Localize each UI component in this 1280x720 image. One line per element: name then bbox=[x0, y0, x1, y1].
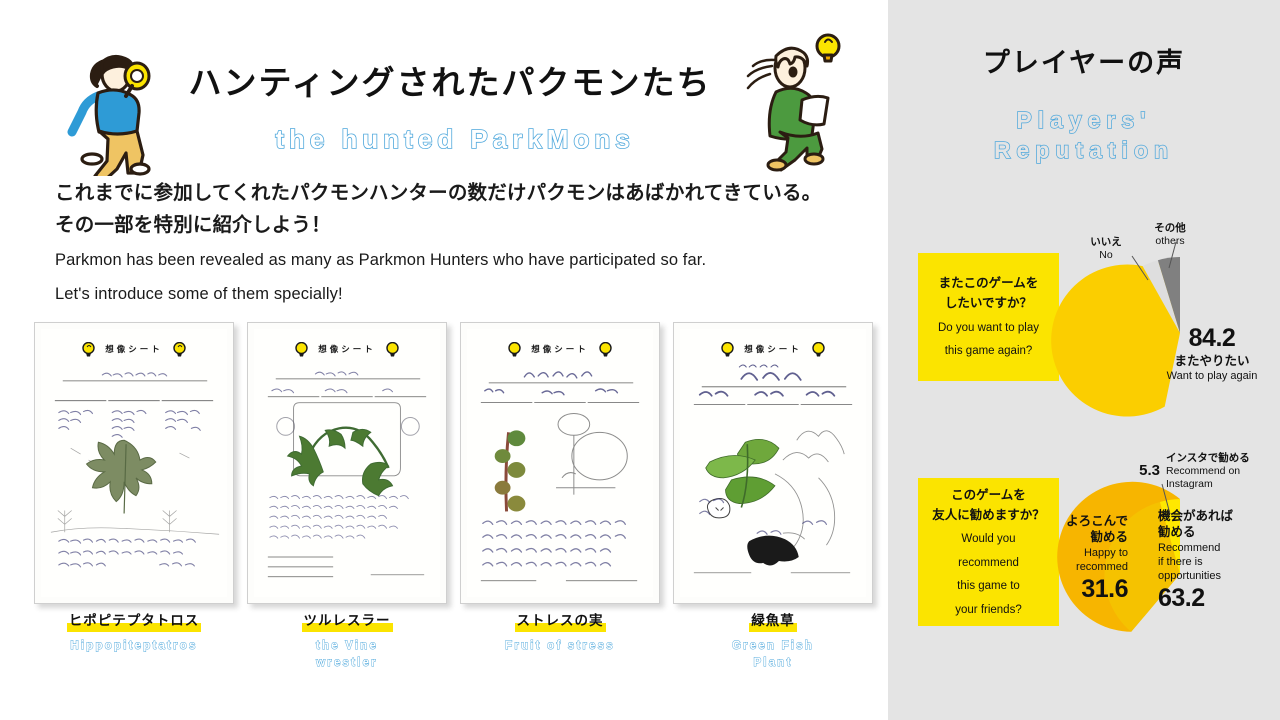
green-leaf-specimen bbox=[706, 439, 779, 507]
pie2-label-opportunity-jp-1: 機会があれば bbox=[1158, 508, 1278, 524]
lead-en-line-1: Parkmon has been revealed as many as Par… bbox=[55, 246, 855, 274]
card-caption-en: Green Fish Plant bbox=[673, 638, 873, 673]
pie2-label-happy-en-1: Happy to bbox=[1036, 546, 1128, 560]
question-1-jp-line-1: またこのゲームを bbox=[939, 273, 1039, 293]
pie2-label-opportunity-jp-2: 勧める bbox=[1158, 524, 1278, 540]
pie2-label-opportunity: 機会があれば 勧める Recommend if there is opportu… bbox=[1158, 508, 1278, 613]
question-2-jp-line-2: 友人に勧めますか？ bbox=[932, 505, 1045, 525]
lead-jp-line-1: これまでに参加してくれたパクモンハンターの数だけパクモンはあばかれてきている。 bbox=[55, 178, 855, 210]
parkmon-card[interactable]: 想像シート bbox=[34, 322, 234, 672]
lead-paragraph: これまでに参加してくれたパクモンハンターの数だけパクモンはあばかれてきている。 … bbox=[55, 178, 855, 308]
pie2-callout-instagram: インスタで勧める Recommend on Instagram bbox=[1166, 452, 1280, 490]
card-caption-jp: ツルレスラー bbox=[302, 613, 393, 632]
pie2-callout-instagram-en-2: Instagram bbox=[1166, 478, 1280, 491]
sheet-content bbox=[254, 329, 440, 597]
card-caption: ヒポピテプタトロス Hippopiteptatros bbox=[34, 612, 234, 655]
question-2-jp-line-1: このゲームを bbox=[951, 485, 1026, 505]
pie2-label-happy-jp-1: よろこんで bbox=[1036, 513, 1128, 529]
pie1-main-label-en: Want to play again bbox=[1152, 369, 1272, 383]
question-1-en-line-1: Do you want to play bbox=[938, 319, 1039, 338]
reputation-title-en: Players' Reputation bbox=[888, 105, 1280, 166]
berry-stem-specimen bbox=[495, 430, 526, 511]
pie1-callout-others: その他 others bbox=[1138, 222, 1202, 248]
slide-root: ハンティングされたパクモンたち the hunted ParkMons bbox=[0, 0, 1280, 720]
imagination-sheet-thumbnail[interactable]: 想像シート bbox=[460, 322, 660, 604]
hunter-boy-with-magnifier-icon bbox=[58, 36, 168, 176]
pie1-callout-no-en: No bbox=[1078, 249, 1134, 262]
pie1-main-label-jp: またやりたい bbox=[1152, 353, 1272, 369]
pie1-callout-no-jp: いいえ bbox=[1078, 236, 1134, 249]
question-2-en-line-1: Would you bbox=[961, 530, 1015, 549]
pie2-callout-instagram-jp: インスタで勧める bbox=[1166, 452, 1280, 465]
header-block: ハンティングされたパクモンたち the hunted ParkMons bbox=[50, 28, 850, 173]
left-panel: ハンティングされたパクモンたち the hunted ParkMons bbox=[0, 0, 888, 720]
question-box-1: またこのゲームを したいですか？ Do you want to play thi… bbox=[918, 253, 1059, 381]
imagination-sheet-thumbnail[interactable]: 想像シート bbox=[247, 322, 447, 604]
question-2-en-line-2: recommend bbox=[958, 554, 1019, 573]
pie2-label-opportunity-en-3: opportunities bbox=[1158, 569, 1278, 583]
pie2-value-instagram: 5.3 bbox=[1128, 462, 1160, 479]
question-2-en-line-4: your friends? bbox=[955, 601, 1021, 620]
question-2-en-line-3: this game to bbox=[957, 577, 1020, 596]
pie2-label-happy-jp-2: 勧める bbox=[1036, 529, 1128, 545]
running-girl-with-book-icon bbox=[732, 28, 850, 176]
card-caption: ツルレスラー the Vine wrestler bbox=[247, 612, 447, 672]
pie2-value-opportunity: 63.2 bbox=[1158, 584, 1278, 613]
sheet-content bbox=[41, 329, 227, 597]
reputation-title-en-line-1: Players' bbox=[888, 105, 1280, 135]
card-caption: 緑魚草 Green Fish Plant bbox=[673, 612, 873, 672]
card-caption-en: Fruit of stress bbox=[460, 638, 660, 655]
lead-en-line-2: Let's introduce some of them specially! bbox=[55, 280, 855, 308]
parkmon-card-list: 想像シート bbox=[34, 322, 874, 672]
pie1-callout-no: いいえ No bbox=[1078, 236, 1134, 262]
imagination-sheet-thumbnail[interactable]: 想像シート bbox=[673, 322, 873, 604]
vine-branch-specimen bbox=[288, 428, 393, 496]
card-caption-jp: ストレスの実 bbox=[515, 613, 606, 632]
pie2-label-opportunity-en-1: Recommend bbox=[1158, 541, 1278, 555]
reputation-title-jp: プレイヤーの声 bbox=[888, 50, 1280, 77]
card-caption: ストレスの実 Fruit of stress bbox=[460, 612, 660, 655]
card-caption-jp: 緑魚草 bbox=[749, 613, 797, 632]
page-title-jp: ハンティングされたパクモンたち bbox=[165, 66, 735, 99]
card-caption-jp: ヒポピテプタトロス bbox=[67, 613, 202, 632]
pie2-label-opportunity-en-2: if there is bbox=[1158, 555, 1278, 569]
oak-leaf-specimen bbox=[87, 440, 156, 513]
reputation-title-en-line-2: Reputation bbox=[888, 135, 1280, 165]
question-1-jp-line-2: したいですか？ bbox=[945, 293, 1032, 313]
right-panel: プレイヤーの声 Players' Reputation またこのゲームを したい… bbox=[888, 0, 1280, 720]
page-title-en: the hunted ParkMons bbox=[165, 126, 745, 152]
pie1-callout-others-jp: その他 bbox=[1138, 222, 1202, 235]
lead-jp-line-2: その一部を特別に紹介しよう！ bbox=[55, 210, 855, 242]
card-caption-en: the Vine wrestler bbox=[247, 638, 447, 673]
pie1-callout-others-en: others bbox=[1138, 235, 1202, 248]
card-caption-en: Hippopiteptatros bbox=[34, 638, 234, 655]
sheet-content bbox=[467, 329, 653, 597]
pie2-value-happy: 31.6 bbox=[1036, 575, 1128, 604]
fish-silhouette bbox=[747, 536, 798, 566]
pie1-main-value: 84.2 bbox=[1152, 324, 1272, 353]
parkmon-card[interactable]: 想像シート bbox=[247, 322, 447, 672]
parkmon-card[interactable]: 想像シート bbox=[460, 322, 660, 672]
pie2-label-happy-en-2: recommed bbox=[1036, 560, 1128, 574]
pie2-label-happy: よろこんで 勧める Happy to recommed 31.6 bbox=[1036, 513, 1128, 604]
imagination-sheet-thumbnail[interactable]: 想像シート bbox=[34, 322, 234, 604]
parkmon-card[interactable]: 想像シート bbox=[673, 322, 873, 672]
pie1-main-label: 84.2 またやりたい Want to play again bbox=[1152, 324, 1272, 384]
pie2-callout-instagram-en-1: Recommend on bbox=[1166, 465, 1280, 478]
sheet-content bbox=[680, 329, 866, 597]
question-1-en-line-2: this game again? bbox=[945, 342, 1033, 361]
